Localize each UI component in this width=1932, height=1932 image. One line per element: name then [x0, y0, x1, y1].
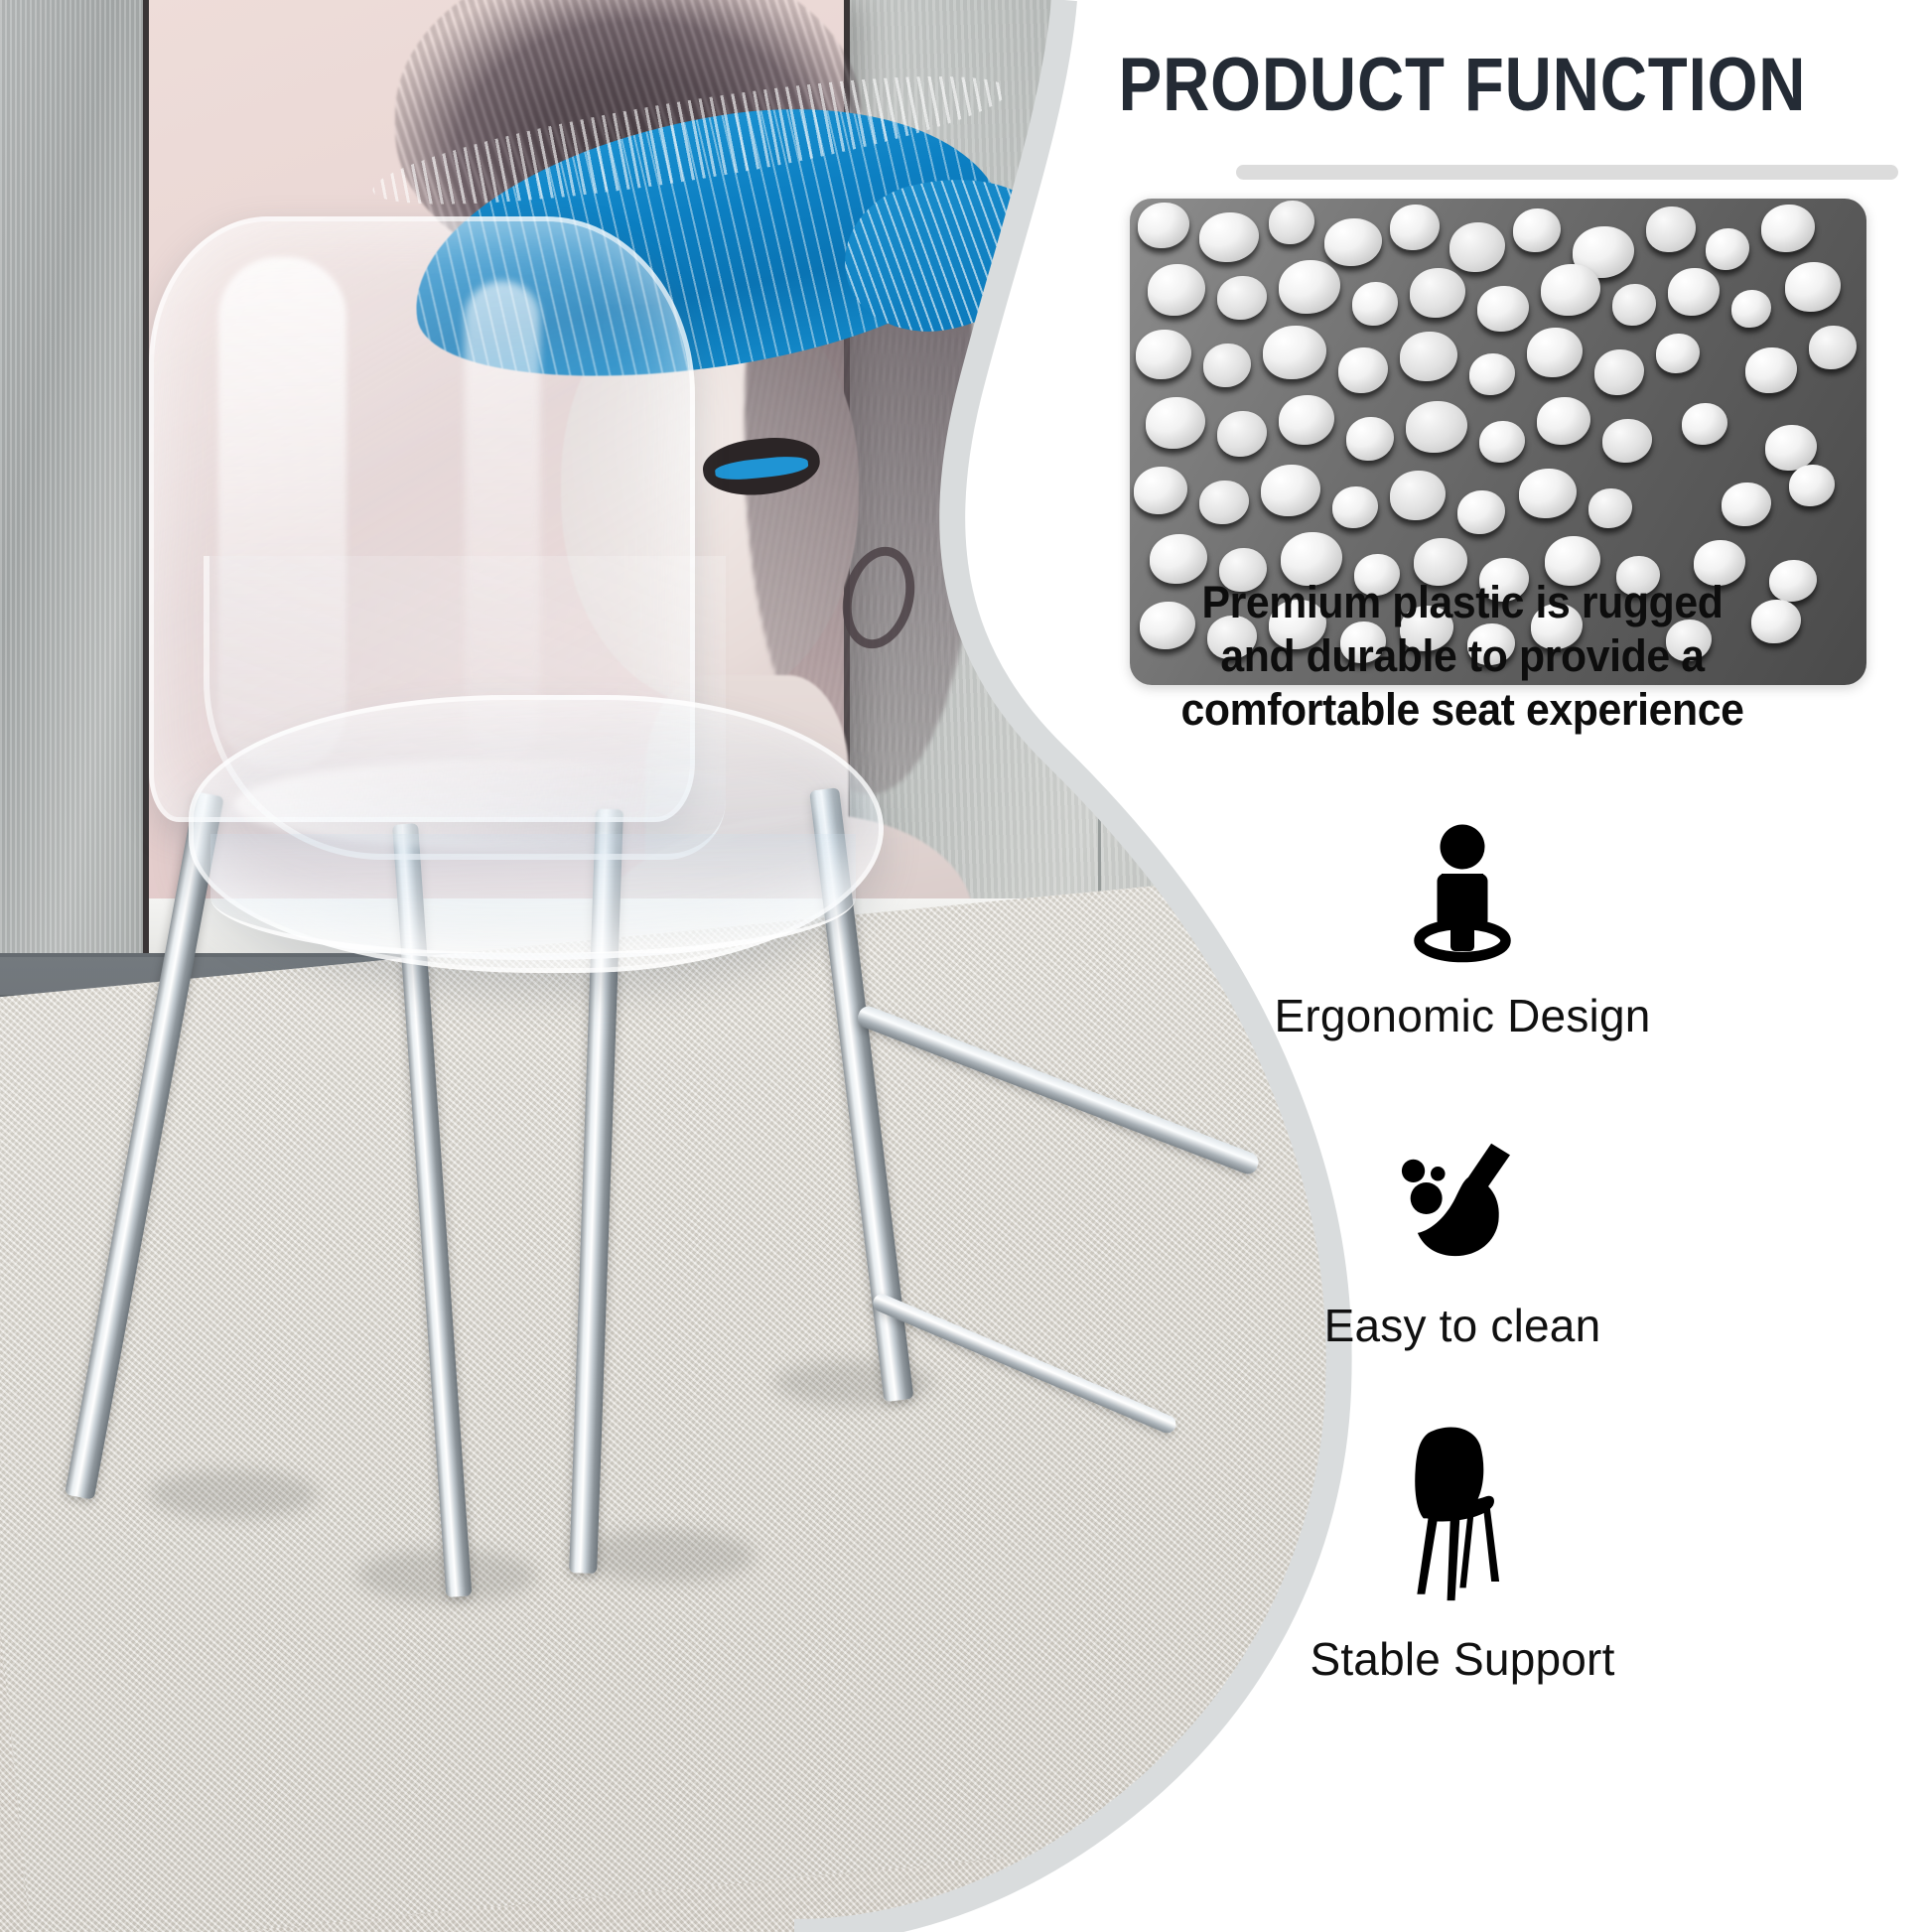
caption-line-3: comfortable seat experience [1035, 683, 1890, 737]
caption-line-1: Premium plastic is rugged [1035, 576, 1890, 629]
feature-label: Stable Support [993, 1632, 1932, 1686]
chair-silhouette-icon [993, 1398, 1932, 1626]
feature-easy-to-clean: Easy to clean [993, 1104, 1932, 1352]
feature-ergonomic-design: Ergonomic Design [993, 794, 1932, 1042]
title-divider [1236, 165, 1898, 180]
product-feature-infographic: PRODUCT FUNCTION [0, 0, 1932, 1932]
chair-leg-front-left [65, 791, 224, 1499]
feature-panel: PRODUCT FUNCTION [993, 0, 1932, 1932]
feature-label: Ergonomic Design [993, 989, 1932, 1042]
broom-sweeping-icon [993, 1104, 1932, 1293]
feature-stable-support: Stable Support [993, 1398, 1932, 1686]
feature-label: Easy to clean [993, 1299, 1932, 1352]
chair-seat-edge [210, 834, 856, 960]
page-title: PRODUCT FUNCTION [1058, 42, 1866, 128]
caption-line-2: and durable to provide a [1035, 629, 1890, 683]
material-caption: Premium plastic is rugged and durable to… [1035, 576, 1890, 737]
person-in-circle-icon [993, 794, 1932, 983]
